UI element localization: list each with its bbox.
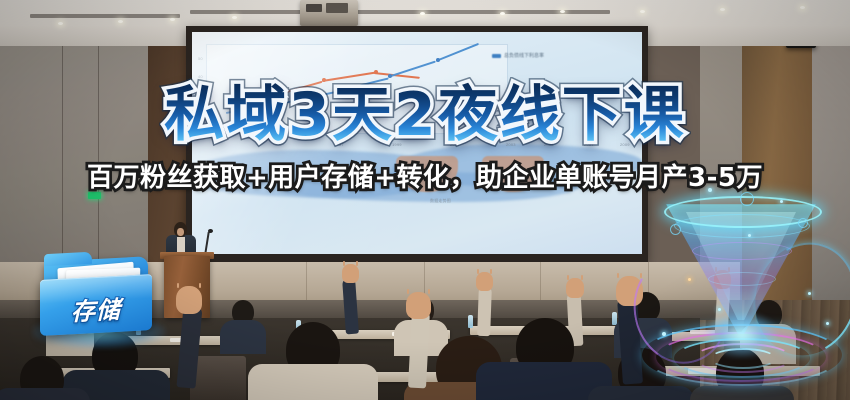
funnel-rim-2 <box>674 214 810 238</box>
water-bottle <box>468 315 473 328</box>
folder-label: 存储 <box>40 288 152 329</box>
funnel-spark-2 <box>780 200 783 203</box>
funnel-node-3 <box>798 218 808 228</box>
ceiling-slot-1 <box>30 14 180 18</box>
downlight-2 <box>118 20 123 23</box>
folder-tab-icon <box>44 252 92 267</box>
conversion-funnel-hologram <box>648 182 848 400</box>
storage-folder-badge: 存储 <box>38 255 160 343</box>
chair <box>190 356 246 400</box>
microphone-head-icon <box>208 229 213 233</box>
audience-torso <box>248 364 378 400</box>
poster-banner: 总负债线下利息率 50 40 30 20 1997 1999 2001 2003… <box>0 0 850 400</box>
raised-hand <box>406 292 431 319</box>
funnel-spark-5 <box>662 332 666 336</box>
downlight-4 <box>232 16 237 19</box>
downlight-8 <box>560 10 565 13</box>
audience-torso <box>220 320 266 354</box>
downlight-6 <box>420 12 425 15</box>
projector-icon <box>300 0 358 26</box>
funnel-spark-3 <box>688 278 691 281</box>
downlight-10 <box>720 8 725 11</box>
title-gradient-fill: 私域3天2夜线下课 <box>0 82 850 148</box>
downlight-7 <box>500 12 505 15</box>
downlight-11 <box>800 6 805 9</box>
presenter-shirt <box>177 237 185 253</box>
funnel-spark-4 <box>808 292 811 295</box>
downlight-3 <box>170 18 175 21</box>
raised-hand <box>342 264 359 283</box>
folder-front-icon: 存储 <box>40 274 152 336</box>
funnel-spark-7 <box>748 234 751 237</box>
raised-hand <box>566 278 584 298</box>
subtitle-fill: 百万粉丝获取+用户存储+转化，助企业单账号月产3-5万 <box>0 161 850 195</box>
downlight-1 <box>58 22 63 25</box>
raised-hand <box>476 272 493 291</box>
raised-hand <box>176 286 202 314</box>
page-title: 私域3天2夜线下课 私域3天2夜线下课 私域3天2夜线下课 <box>0 82 850 148</box>
funnel-spark-6 <box>826 322 829 325</box>
downlight-9 <box>640 10 645 13</box>
presenter-face <box>177 228 184 236</box>
funnel-spark-8 <box>718 308 721 311</box>
audience-torso <box>0 388 90 400</box>
raised-arm <box>477 286 492 336</box>
funnel-node-2 <box>670 224 681 235</box>
ceiling-slot-2 <box>190 10 610 14</box>
